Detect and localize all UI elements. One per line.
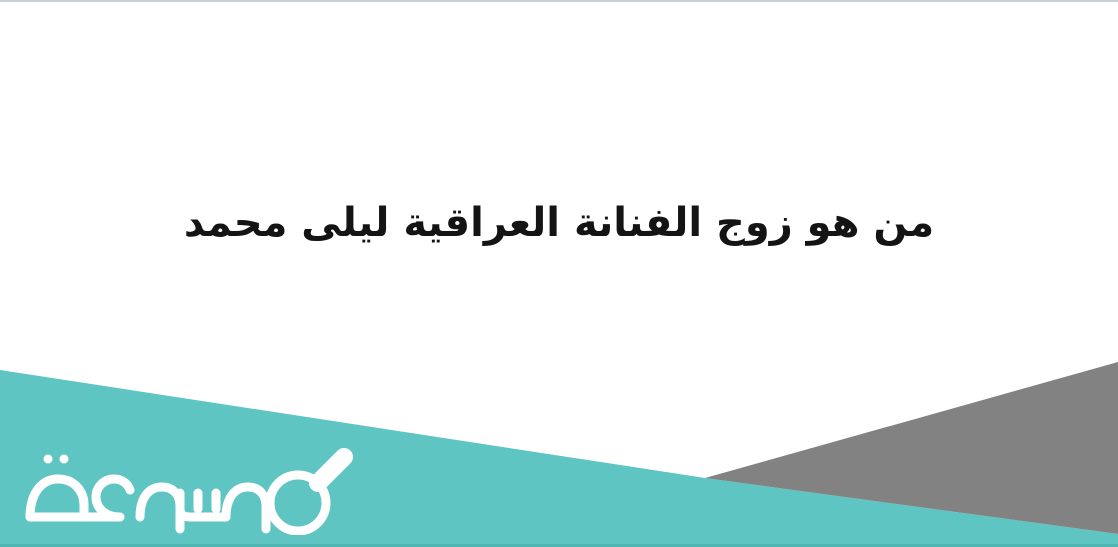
gray-triangle — [705, 362, 1118, 534]
logo-letter-ta-marbuta — [30, 479, 84, 517]
logo-magnifier-handle — [318, 457, 344, 483]
logo-dot-1 — [44, 455, 53, 464]
page-title-container: من هو زوج الفنانة العراقية ليلى محمد — [0, 186, 1118, 260]
brand-logo[interactable] — [12, 443, 364, 535]
logo-letter-seen — [180, 493, 226, 517]
logo-letter-ain — [96, 479, 130, 517]
logo-letter-waw-2 — [226, 487, 266, 529]
page-title: من هو زوج الفنانة العراقية ليلى محمد — [184, 198, 934, 248]
top-border-rule — [0, 0, 1118, 2]
logo-dot-2 — [60, 455, 69, 464]
brand-logo-mark — [12, 443, 364, 535]
page-canvas: من هو زوج الفنانة العراقية ليلى محمد — [0, 0, 1118, 547]
logo-letter-waw-1 — [140, 487, 180, 529]
